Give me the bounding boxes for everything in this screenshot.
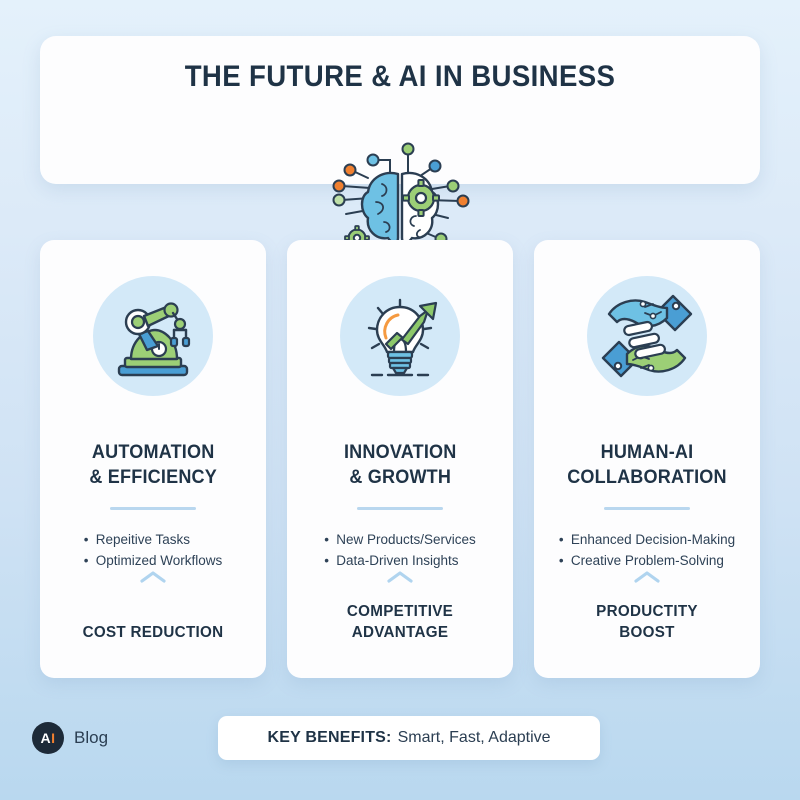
- chevron-up-icon: [385, 569, 415, 590]
- human-ai-handshake-icon: [587, 276, 707, 396]
- card-title-line1: HUMAN-AI: [567, 440, 727, 465]
- infographic-root: THE FUTURE & AI IN BUSINESS: [0, 0, 800, 800]
- benefit-cards-row: AUTOMATION & EFFICIENCY Repeitive Tasks …: [40, 240, 760, 680]
- page-title: THE FUTURE & AI IN BUSINESS: [69, 60, 731, 94]
- key-benefits-label: KEY BENEFITS:: [267, 729, 391, 747]
- card-bullet-list: Repeitive Tasks Optimized Workflows: [84, 530, 223, 572]
- card-outcome-label: COMPETITIVE ADVANTAGE: [293, 602, 508, 644]
- card-outcome-label: COST REDUCTION: [46, 623, 261, 644]
- card-outcome-line2: BOOST: [540, 623, 755, 644]
- ai-logo-icon: AI: [32, 722, 64, 754]
- list-item: New Products/Services: [324, 530, 476, 551]
- benefit-card-human-ai[interactable]: HUMAN-AI COLLABORATION Enhanced Decision…: [534, 240, 760, 678]
- list-item: Enhanced Decision-Making: [559, 530, 735, 551]
- card-title: INNOVATION & GROWTH: [336, 440, 464, 490]
- card-title: HUMAN-AI COLLABORATION: [560, 440, 735, 490]
- card-bullet-list: Enhanced Decision-Making Creative Proble…: [559, 530, 735, 572]
- card-title-line2: COLLABORATION: [567, 465, 727, 490]
- benefit-card-innovation[interactable]: INNOVATION & GROWTH New Products/Service…: [287, 240, 513, 678]
- card-title-line2: & EFFICIENCY: [89, 465, 217, 490]
- logo-letter-i: I: [51, 730, 55, 746]
- lightbulb-growth-arrow-icon: [340, 276, 460, 396]
- brand-mark[interactable]: AI Blog: [32, 722, 108, 754]
- card-title-line1: AUTOMATION: [89, 440, 217, 465]
- robot-arm-icon: [93, 276, 213, 396]
- card-outcome-line1: COST REDUCTION: [46, 623, 261, 644]
- card-title: AUTOMATION & EFFICIENCY: [82, 440, 225, 490]
- card-outcome-line1: COMPETITIVE: [293, 602, 508, 623]
- logo-letter-a: A: [40, 730, 51, 746]
- list-item: Repeitive Tasks: [84, 530, 223, 551]
- card-divider: [357, 507, 443, 510]
- key-benefits-banner: KEY BENEFITS: Smart, Fast, Adaptive: [218, 716, 600, 760]
- key-benefits-value: Smart, Fast, Adaptive: [398, 729, 551, 747]
- card-divider: [110, 507, 196, 510]
- brand-label: Blog: [74, 728, 108, 748]
- chevron-up-icon: [632, 569, 662, 590]
- benefit-card-automation[interactable]: AUTOMATION & EFFICIENCY Repeitive Tasks …: [40, 240, 266, 678]
- card-outcome-line2: ADVANTAGE: [293, 623, 508, 644]
- card-bullet-list: New Products/Services Data-Driven Insigh…: [324, 530, 476, 572]
- card-outcome-label: PRODUCTITY BOOST: [540, 602, 755, 644]
- chevron-up-icon: [138, 569, 168, 590]
- header-card: THE FUTURE & AI IN BUSINESS: [40, 36, 760, 184]
- card-outcome-line1: PRODUCTITY: [540, 602, 755, 623]
- card-title-line2: & GROWTH: [344, 465, 457, 490]
- card-title-line1: INNOVATION: [344, 440, 457, 465]
- card-divider: [604, 507, 690, 510]
